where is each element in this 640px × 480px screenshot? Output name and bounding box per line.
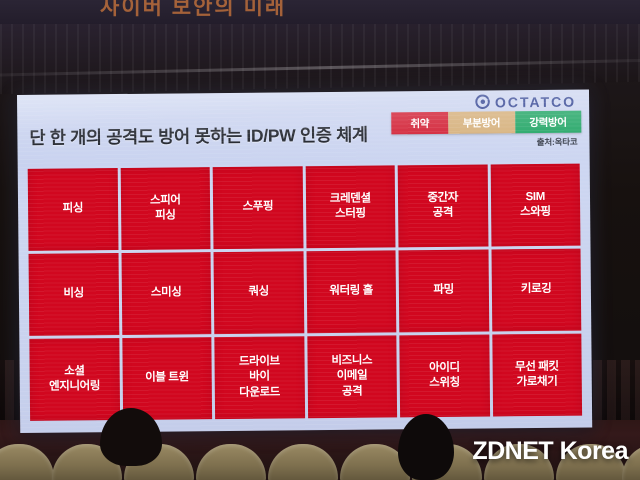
threat-cell-line: 피싱 [150,208,181,223]
chair [268,444,338,480]
slide-title: 단 한 개의 공격도 방어 못하는 ID/PW 인증 체계 [29,122,368,150]
threat-cell: 피싱 [28,168,118,251]
threat-cell-line: 무선 패킷 [515,360,559,376]
threat-cell: 쿼싱 [214,251,304,334]
threat-cell: 스푸핑 [213,166,303,249]
threat-cell-line: 스피어 [150,193,181,208]
threat-cell: 소셜엔지니어링 [29,338,119,421]
threat-cell-line: 스와핑 [520,205,551,220]
threat-cell: 파밍 [399,249,489,332]
threat-cell: 드라이브바이다운로드 [214,336,304,419]
threat-cell-line: 스위칭 [429,376,460,391]
venue-top-banner: 사이버 보안의 미래 [0,0,640,24]
venue-banner-text: 사이버 보안의 미래 [100,0,286,21]
threat-cell-line: 스터핑 [330,207,371,223]
threat-cell-line: 엔지니어링 [49,379,100,395]
threat-cell-line: 피싱 [63,202,84,217]
slide-header: OCTATCO 단 한 개의 공격도 방어 못하는 ID/PW 인증 체계 취약… [17,90,590,167]
threat-cell-line: 스미싱 [151,286,182,301]
threat-grid: 피싱스피어피싱스푸핑크레덴셜스터핑중간자공격SIM스와핑비싱스미싱쿼싱워터링 홀… [28,164,582,421]
threat-cell-line: 다운로드 [239,385,280,401]
audience-head [398,414,454,480]
photo-scene: 사이버 보안의 미래 OCTATCO 단 한 개의 공격도 방어 못하는 ID/… [0,0,640,480]
threat-cell-line: 이메일 [332,369,373,385]
legend-item-weak: 취약 [391,112,448,135]
threat-cell-line: 소셜 [49,364,100,380]
threat-cell-line: 스푸핑 [242,200,273,215]
defense-legend: 취약 부분방어 강력방어 [391,111,581,135]
threat-cell-line: 키로깅 [521,282,552,297]
threat-cell-line: 바이 [239,370,280,386]
threat-cell-line: 비싱 [63,287,84,302]
threat-cell-line: 크레덴셜 [330,191,371,207]
audience-head [100,408,162,466]
threat-cell: SIM스와핑 [490,164,580,247]
threat-cell-line: 중간자 [427,191,458,206]
threat-cell-line: 이블 트윈 [145,371,189,387]
octatco-swirl-icon [475,94,490,109]
venue-wall-slats [0,12,640,94]
threat-cell-line: SIM [520,190,551,205]
octatco-logo: OCTATCO [475,94,576,110]
threat-cell-line: 공격 [428,206,459,221]
threat-cell-line: 쿼싱 [248,285,269,300]
threat-cell: 크레덴셜스터핑 [305,165,395,248]
threat-cell: 비싱 [29,253,119,336]
zdnet-korea-watermark: ZDNET Korea [472,439,628,464]
threat-cell-line: 비즈니스 [331,354,372,370]
threat-cell-line: 드라이브 [239,355,280,371]
legend-item-partial: 부분방어 [448,111,515,134]
threat-cell-line: 공격 [332,384,373,400]
threat-cell: 워터링 홀 [306,250,396,333]
threat-cell-line: 워터링 홀 [329,284,373,300]
threat-cell: 스미싱 [121,252,211,335]
threat-cell: 중간자공격 [398,164,488,247]
threat-cell: 아이디스위칭 [399,334,489,417]
legend-item-strong: 강력방어 [515,111,582,134]
source-note: 출처:옥타코 [537,136,578,148]
octatco-wordmark: OCTATCO [495,94,576,109]
threat-cell-line: 아이디 [429,361,460,376]
threat-cell: 키로깅 [491,249,581,332]
threat-cell: 비즈니스이메일공격 [307,335,397,418]
chair [196,444,266,480]
threat-cell-line: 파밍 [433,283,454,298]
threat-cell: 무선 패킷가로채기 [492,334,582,417]
threat-cell-line: 가로채기 [515,375,559,391]
threat-cell: 스피어피싱 [120,167,210,250]
presentation-screen: OCTATCO 단 한 개의 공격도 방어 못하는 ID/PW 인증 체계 취약… [17,90,592,433]
chair [0,444,54,480]
